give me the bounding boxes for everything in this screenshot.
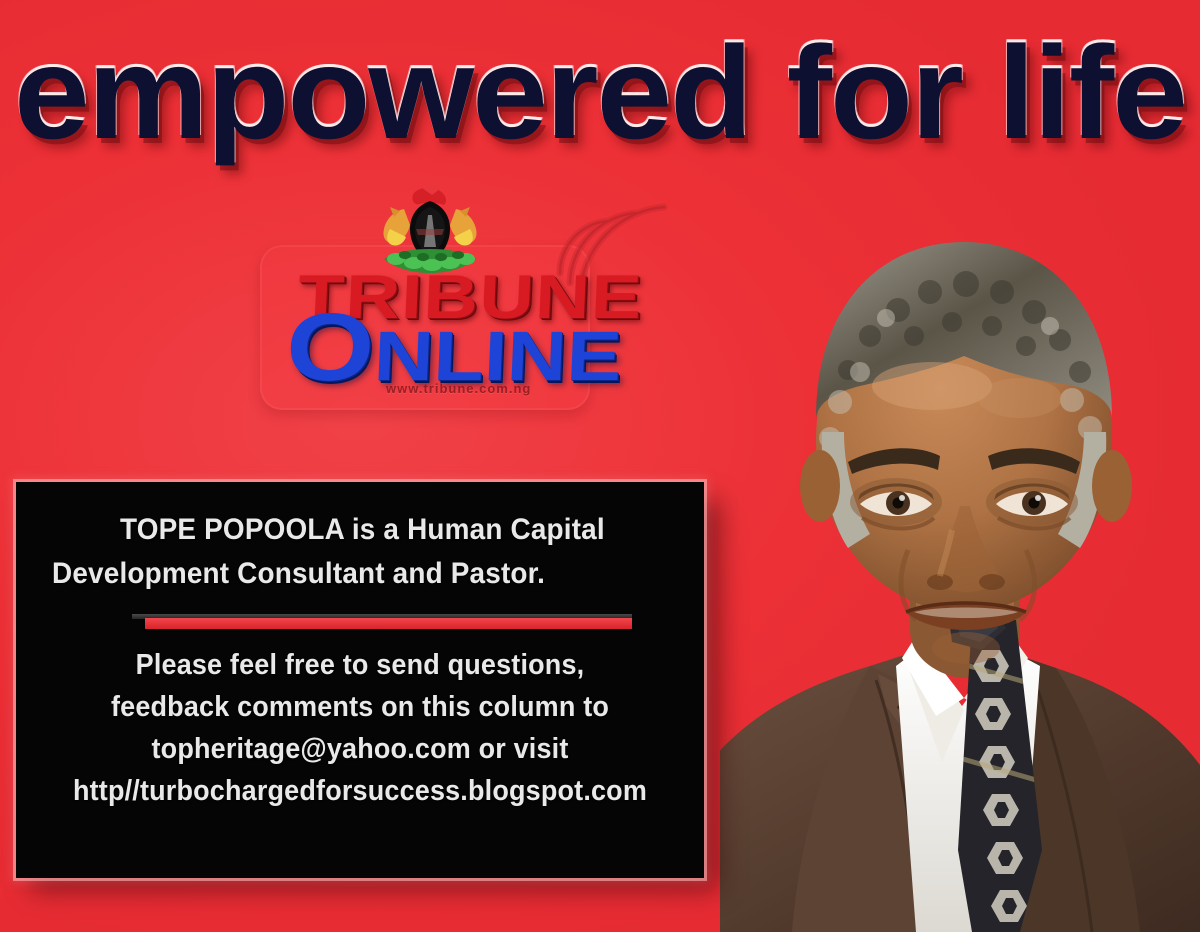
contact-block: Please feel free to send questions, feed… [44,644,676,812]
divider-red-bar [145,618,632,629]
bio-line-2: Development Consultant and Pastor. [52,552,632,596]
portrait-photo [720,150,1200,932]
logo-letter-o: O [284,294,377,401]
contact-line-2: feedback comments on this column to [66,686,654,728]
tribune-online-logo[interactable]: TRIBUNE ONLINE www.tribune.com.ng [252,185,602,415]
contact-email-line[interactable]: topheritage@yahoo.com or visit [66,728,654,770]
headline-area: empowered for life [0,18,1200,178]
column-banner: empowered for life [0,0,1200,932]
author-info-box: TOPE POPOOLA is a Human Capital Developm… [16,482,704,878]
bio-line-1: TOPE POPOOLA is a Human Capital [120,508,637,552]
logo-url-caption: www.tribune.com.ng [386,381,531,396]
banner-headline: empowered for life [14,18,1200,168]
red-divider [132,614,632,630]
contact-line-1: Please feel free to send questions, [66,644,654,686]
contact-blog-url-line[interactable]: http//turbochargedforsuccess.blogspot.co… [66,770,654,812]
logo-word-online: ONLINE [284,313,623,391]
